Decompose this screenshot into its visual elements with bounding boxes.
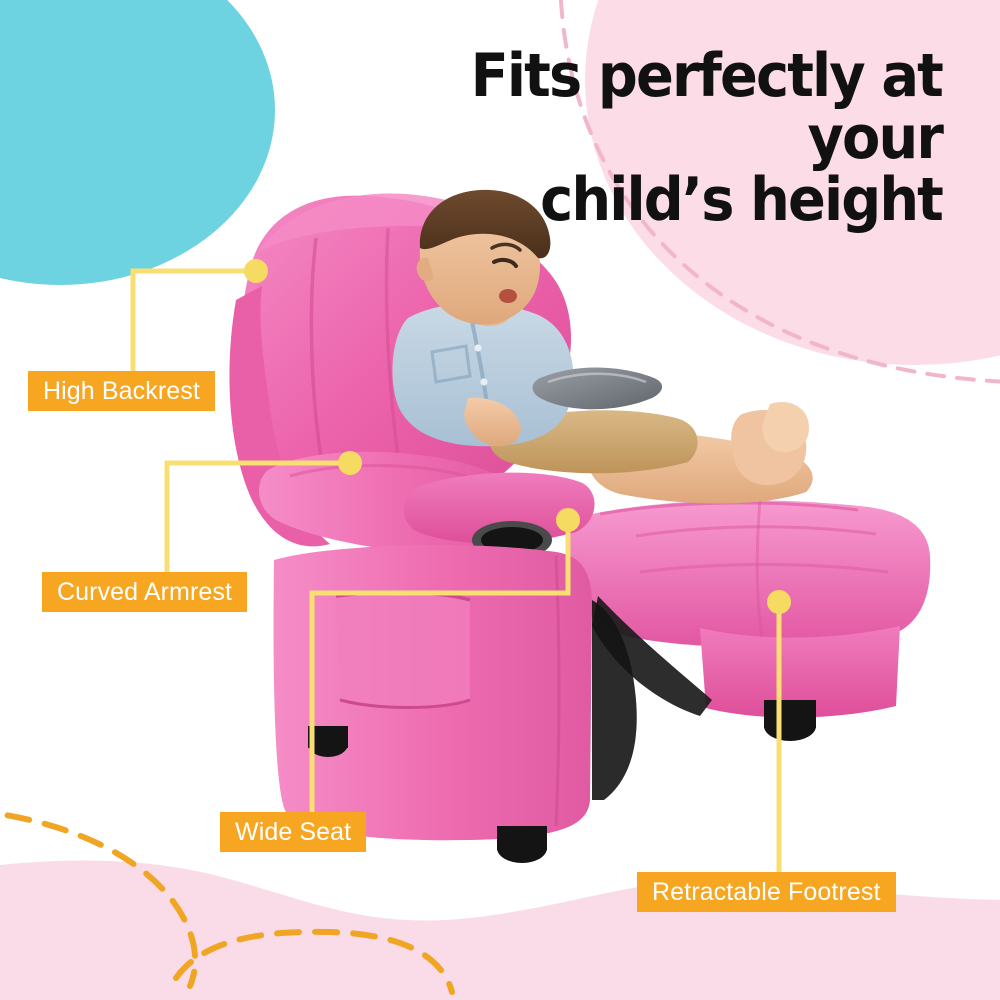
headline-line-1: Fits perfectly at your	[328, 46, 942, 170]
infographic-canvas: High Backrest Curved Armrest Wide Seat R…	[0, 0, 1000, 1000]
headline-block: Fits perfectly at your child’s height	[0, 0, 1000, 1000]
headline-line-2: child’s height	[328, 170, 942, 232]
headline: Fits perfectly at your child’s height	[328, 46, 942, 231]
